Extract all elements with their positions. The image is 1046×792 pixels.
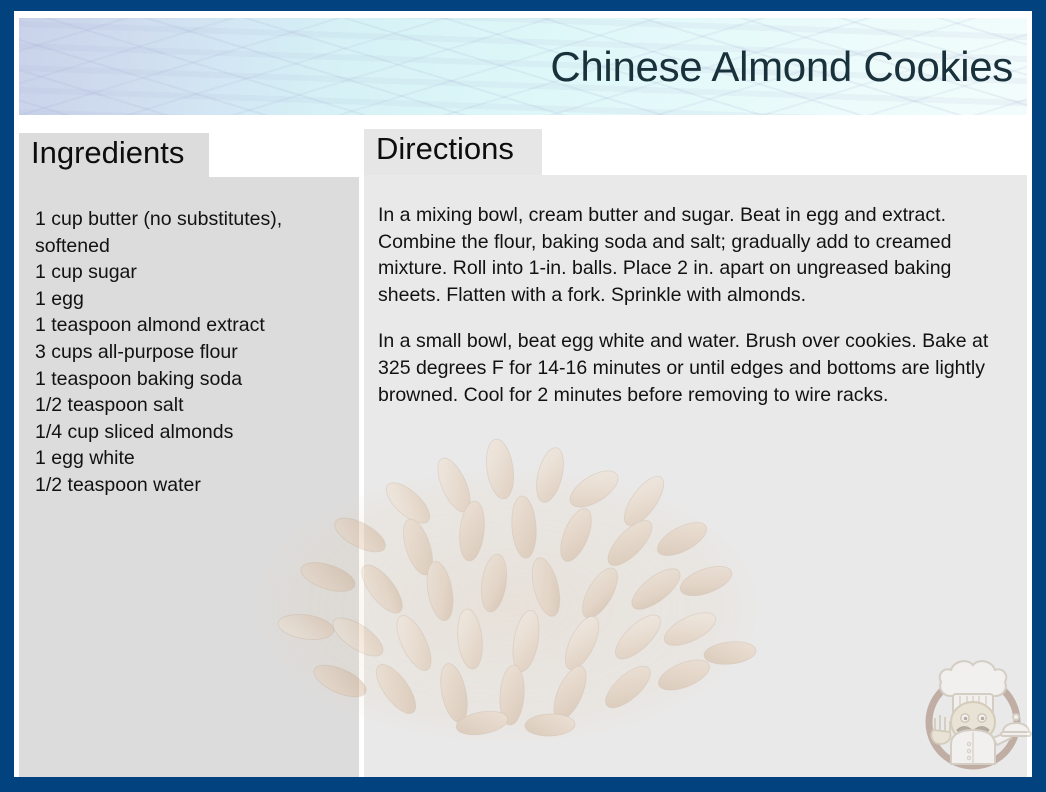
slide-frame: Chinese Almond Cookies <box>0 0 1046 792</box>
list-item: 1 teaspoon almond extract <box>35 312 343 339</box>
page-title: Chinese Almond Cookies <box>550 46 1013 88</box>
list-item: 1 cup butter (no substitutes), softened <box>35 206 343 259</box>
title-banner: Chinese Almond Cookies <box>19 18 1027 115</box>
directions-paragraph: In a small bowl, beat egg white and wate… <box>378 328 1015 408</box>
list-item: 1/2 teaspoon salt <box>35 392 343 419</box>
list-item: 1 cup sugar <box>35 259 343 286</box>
directions-panel: In a mixing bowl, cream butter and sugar… <box>364 175 1027 777</box>
list-item: 1 egg white <box>35 445 343 472</box>
recipe-card-page: Chinese Almond Cookies <box>14 11 1032 777</box>
list-item: 1 egg <box>35 286 343 313</box>
ingredients-list: 1 cup butter (no substitutes), softened … <box>35 206 343 499</box>
list-item: 3 cups all-purpose flour <box>35 339 343 366</box>
ingredients-panel: 1 cup butter (no substitutes), softened … <box>19 177 359 777</box>
directions-heading: Directions <box>364 129 542 177</box>
list-item: 1 teaspoon baking soda <box>35 366 343 393</box>
list-item: 1/2 teaspoon water <box>35 472 343 499</box>
ingredients-heading: Ingredients <box>19 133 209 181</box>
directions-paragraph: In a mixing bowl, cream butter and sugar… <box>378 202 1015 308</box>
list-item: 1/4 cup sliced almonds <box>35 419 343 446</box>
